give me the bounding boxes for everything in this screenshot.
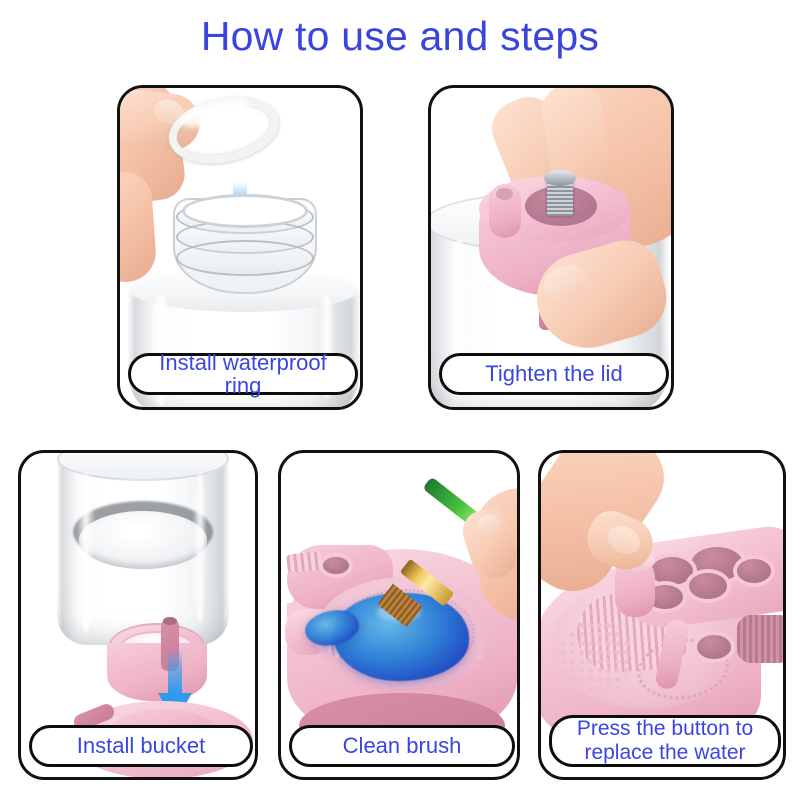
- step-4-caption: Clean brush: [289, 725, 515, 767]
- brush-holder-hole-4: [737, 559, 771, 583]
- bucket-inner-disc: [79, 511, 207, 569]
- step-panel-4[interactable]: Clean brush: [278, 450, 520, 780]
- step-5-caption-line-1: Press the button to: [577, 717, 753, 741]
- infographic-root: How to use and steps: [0, 0, 800, 800]
- step-3-caption: Install bucket: [29, 725, 253, 767]
- brush-holder-hole-2: [651, 557, 693, 585]
- brush-holder-slot: [286, 551, 322, 572]
- brush-holder-hole-1: [323, 557, 349, 574]
- step-panel-1[interactable]: Install waterproof ring: [117, 85, 363, 410]
- arrow-shaft: [168, 649, 182, 693]
- step-panel-5[interactable]: Press the button to replace the water: [538, 450, 786, 780]
- basin-dots: [559, 621, 631, 695]
- side-small-hole: [697, 635, 731, 659]
- step-2-caption-text: Tighten the lid: [485, 362, 622, 385]
- metal-shaft-cap: [544, 170, 576, 186]
- bucket-highlight: [77, 473, 95, 633]
- page-title: How to use and steps: [0, 14, 800, 59]
- step-1-caption-text: Install waterproof ring: [139, 351, 347, 397]
- step-panel-2[interactable]: Tighten the lid: [428, 85, 674, 410]
- brush-holder-hole-3: [689, 573, 727, 599]
- step-2-caption: Tighten the lid: [439, 353, 669, 395]
- step-1-caption: Install waterproof ring: [128, 353, 358, 395]
- step-5-caption: Press the button to replace the water: [549, 715, 781, 767]
- lid-notch-hole: [496, 188, 513, 200]
- lid-spout-hole: [163, 617, 177, 625]
- bucket-highlight-right: [193, 473, 207, 623]
- jar-thread-3: [176, 240, 314, 276]
- step-5-caption-line-2: replace the water: [584, 741, 745, 765]
- collar-skirt: [107, 643, 207, 701]
- step-4-caption-text: Clean brush: [343, 734, 462, 757]
- step-panel-3[interactable]: Install bucket: [18, 450, 258, 780]
- side-ribbed-pad: [737, 615, 783, 663]
- step-3-caption-text: Install bucket: [77, 734, 205, 757]
- jar-mouth: [182, 194, 308, 228]
